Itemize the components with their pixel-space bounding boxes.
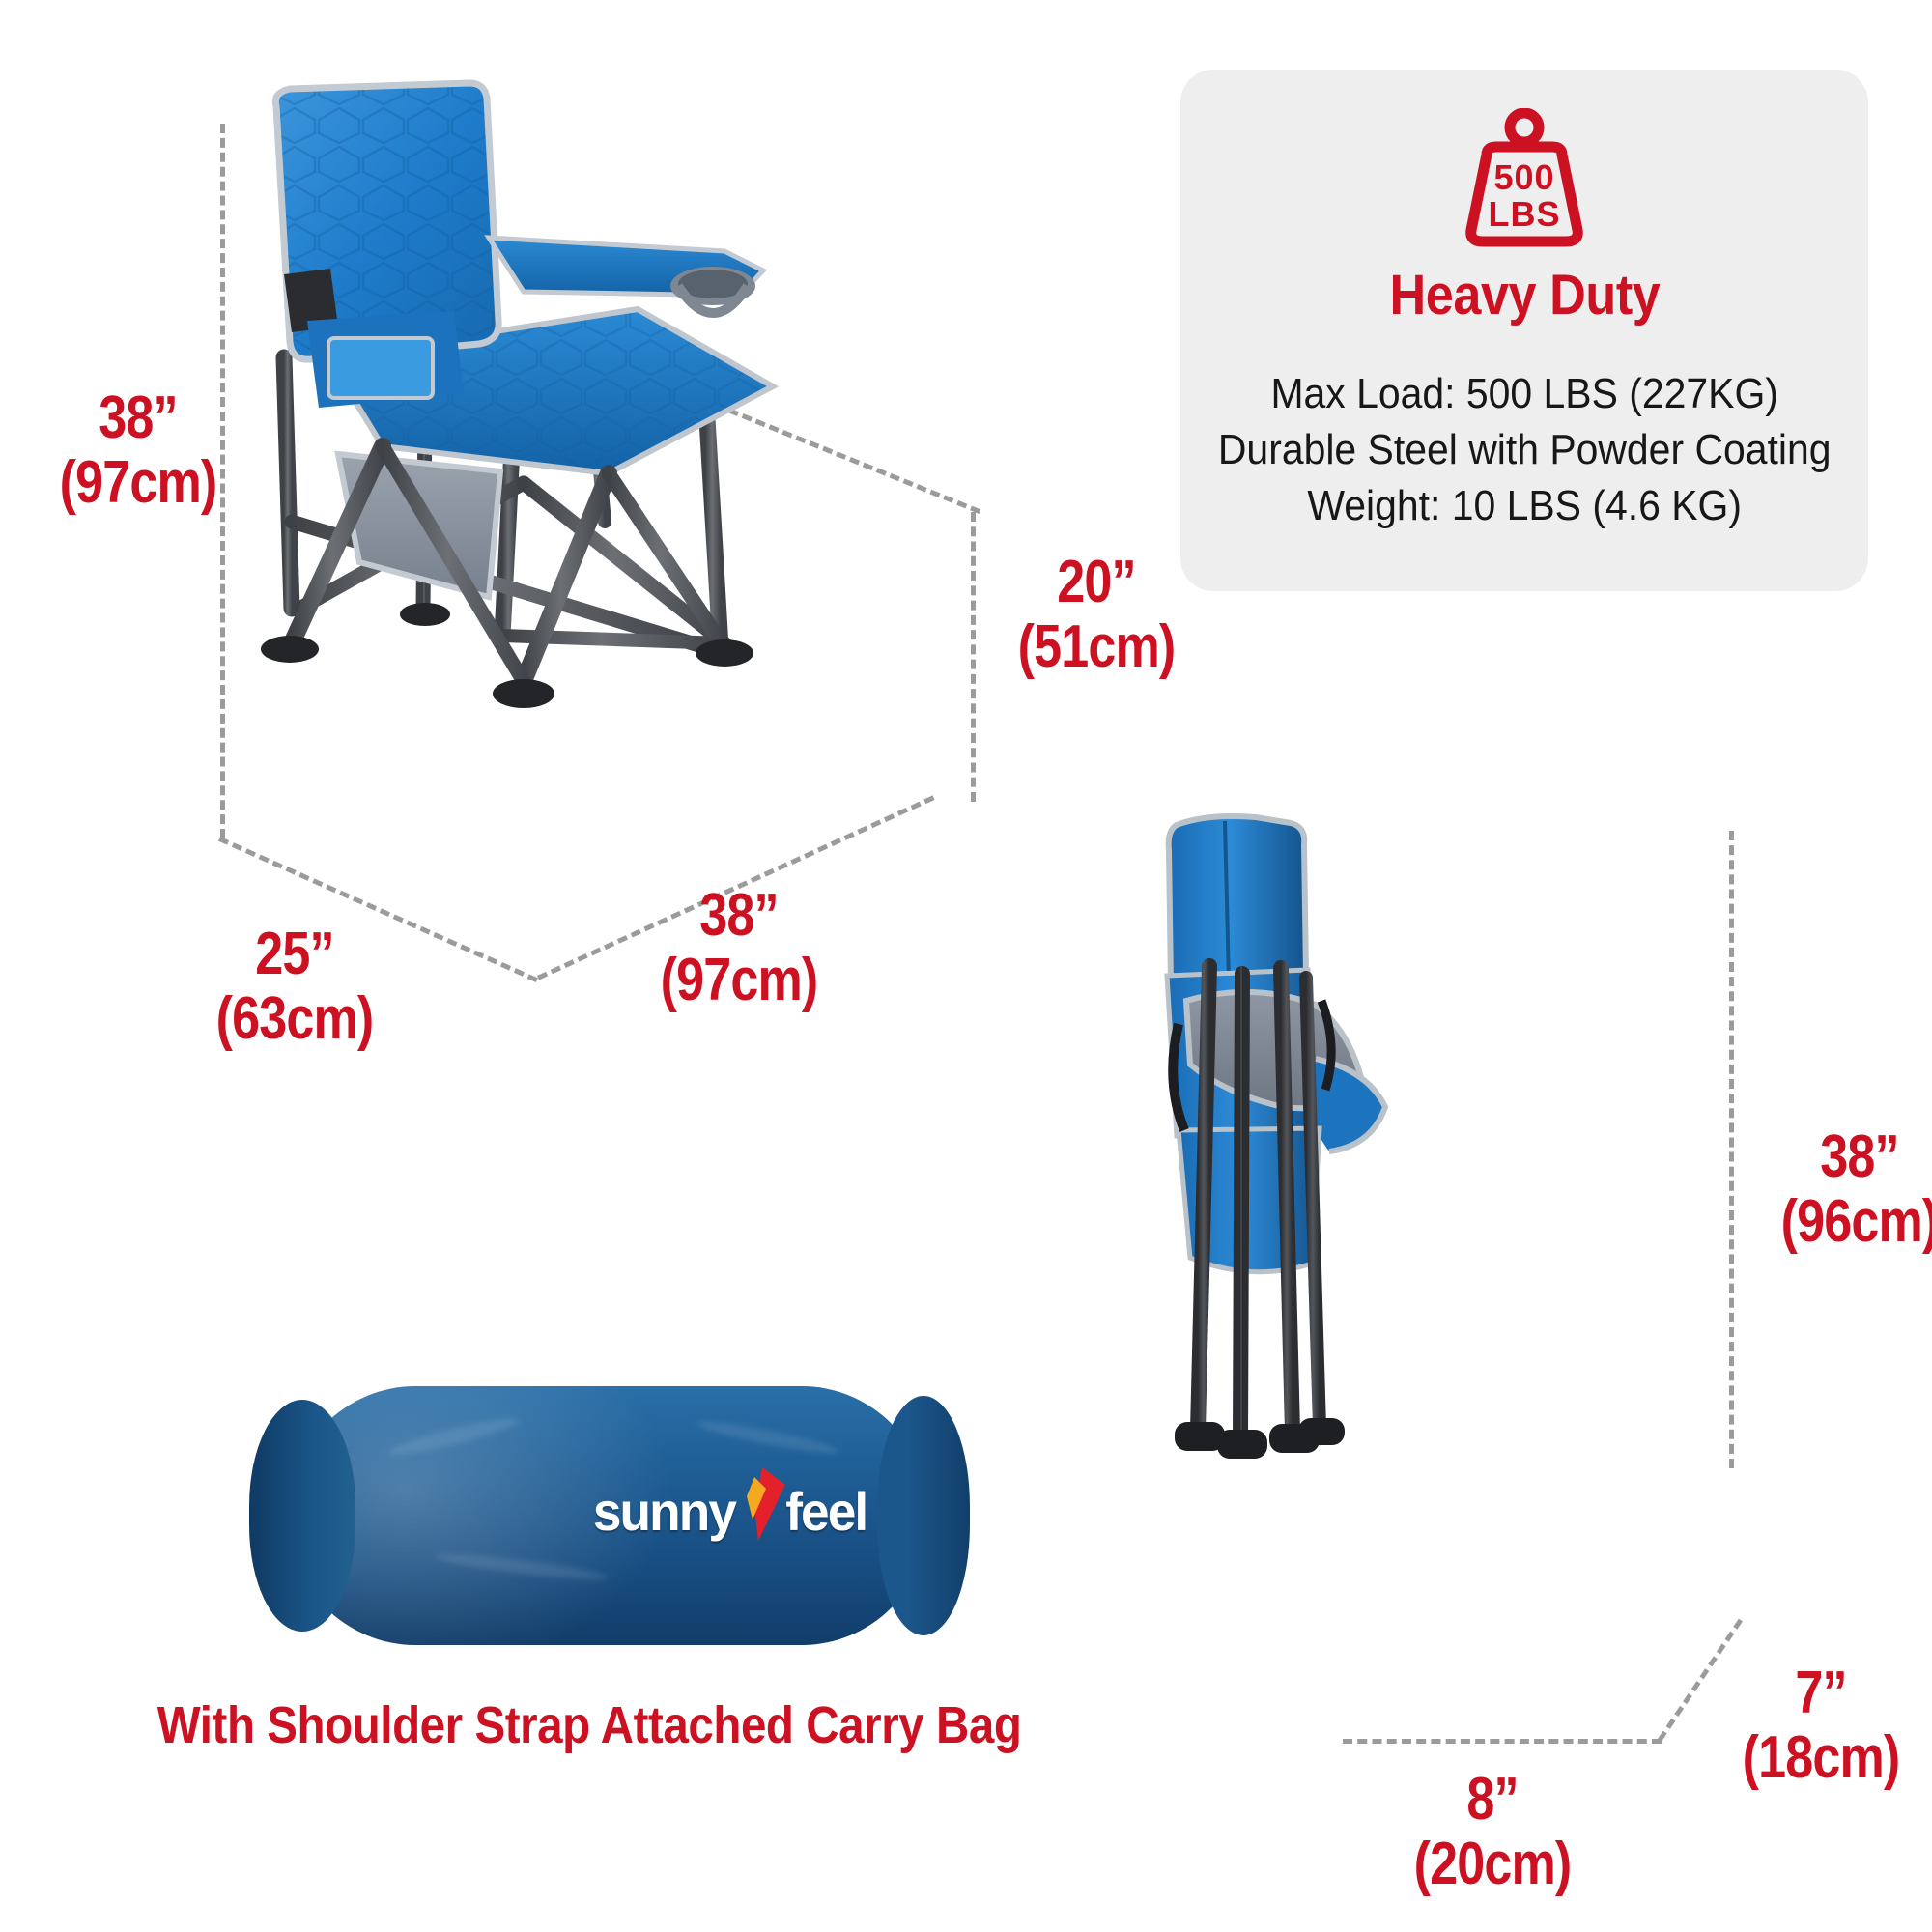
spec-card-title: Heavy Duty bbox=[1389, 263, 1660, 327]
brand-logo: sunny feel bbox=[589, 1458, 879, 1564]
dim-folded-depth: 7” (18cm) bbox=[1719, 1662, 1922, 1791]
carry-bag-left-cinch bbox=[249, 1400, 355, 1632]
heavy-duty-spec-card: 500 LBS Heavy Duty Max Load: 500 LBS (22… bbox=[1180, 70, 1868, 591]
logo-text-feel: feel bbox=[785, 1480, 867, 1543]
guide-folded-width bbox=[1343, 1739, 1662, 1744]
spec-line-max-load: Max Load: 500 LBS (227KG) bbox=[1218, 366, 1832, 422]
dim-open-seat-height: 20” (51cm) bbox=[1003, 551, 1189, 680]
guide-open-seat-height bbox=[971, 512, 976, 802]
logo-text-sunny: sunny bbox=[593, 1480, 735, 1543]
spec-card-lines: Max Load: 500 LBS (227KG) Durable Steel … bbox=[1218, 366, 1832, 534]
dim-open-depth: 38” (97cm) bbox=[638, 884, 840, 1013]
spec-line-material: Durable Steel with Powder Coating bbox=[1218, 422, 1832, 478]
open-chair-image bbox=[184, 68, 947, 744]
carry-bag-caption: With Shoulder Strap Attached Carry Bag bbox=[157, 1695, 905, 1755]
infographic-canvas: 38” (97cm) 20” (51cm) 25” (63cm) 38” (97… bbox=[0, 0, 1932, 1932]
dim-open-width: 25” (63cm) bbox=[193, 923, 396, 1052]
dim-open-height: 38” (97cm) bbox=[44, 386, 231, 516]
carry-bag-image: sunny feel bbox=[241, 1377, 976, 1657]
folded-chair-image bbox=[1063, 811, 1468, 1546]
dim-folded-height: 38” (96cm) bbox=[1775, 1125, 1932, 1255]
carry-bag-right-cinch bbox=[877, 1396, 970, 1635]
arrow-swoosh-icon bbox=[733, 1463, 787, 1545]
guide-folded-height bbox=[1729, 831, 1734, 1468]
dim-folded-width: 8” (20cm) bbox=[1391, 1768, 1594, 1897]
weight-icon-value: 500 bbox=[1493, 157, 1554, 197]
spec-line-weight: Weight: 10 LBS (4.6 KG) bbox=[1218, 478, 1832, 534]
weight-500lbs-icon: 500 LBS bbox=[1442, 108, 1606, 253]
weight-icon-unit: LBS bbox=[1489, 194, 1561, 234]
